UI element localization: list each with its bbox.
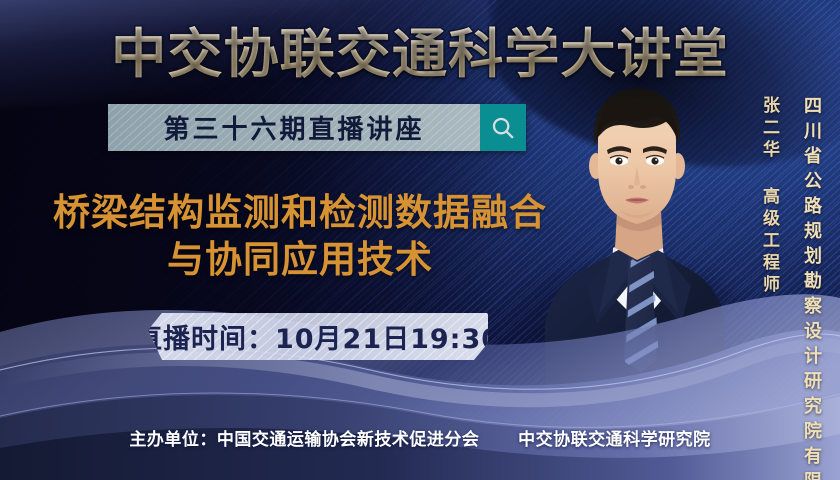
live-time-text: 直播时间：10月21日19:30 xyxy=(148,317,488,356)
search-icon xyxy=(490,115,516,141)
session-banner-label: 第三十六期直播讲座 xyxy=(163,109,424,146)
speaker-name-title: 张二华 高级工程师 xyxy=(757,96,782,297)
topic-title-line2: 与协同应用技术 xyxy=(36,237,564,284)
topic-title: 桥梁结构监测和检测数据融合 与协同应用技术 xyxy=(36,190,564,283)
speaker-organization: 四川省公路规划勘察设计研究院有限公司 xyxy=(798,96,824,480)
session-banner-label-box: 第三十六期直播讲座 xyxy=(108,104,480,151)
live-time-badge: 直播时间：10月21日19:30 xyxy=(148,313,488,360)
main-title: 中交协联交通科学大讲堂 xyxy=(0,12,840,88)
search-button[interactable] xyxy=(480,104,526,151)
topic-title-line1: 桥梁结构监测和检测数据融合 xyxy=(53,191,547,234)
footer-organizer-secondary: 中交协联交通科学研究院 xyxy=(518,430,711,450)
session-banner: 第三十六期直播讲座 xyxy=(108,104,526,151)
webinar-poster: 中交协联交通科学大讲堂 中交协联交通科学大讲堂 第三十六期直播讲座 桥梁结构监测… xyxy=(0,0,840,480)
footer-organizer-primary: 主办单位：中国交通运输协会新技术促进分会 xyxy=(129,430,479,450)
footer-organizers: 主办单位：中国交通运输协会新技术促进分会 中交协联交通科学研究院 xyxy=(0,425,840,450)
